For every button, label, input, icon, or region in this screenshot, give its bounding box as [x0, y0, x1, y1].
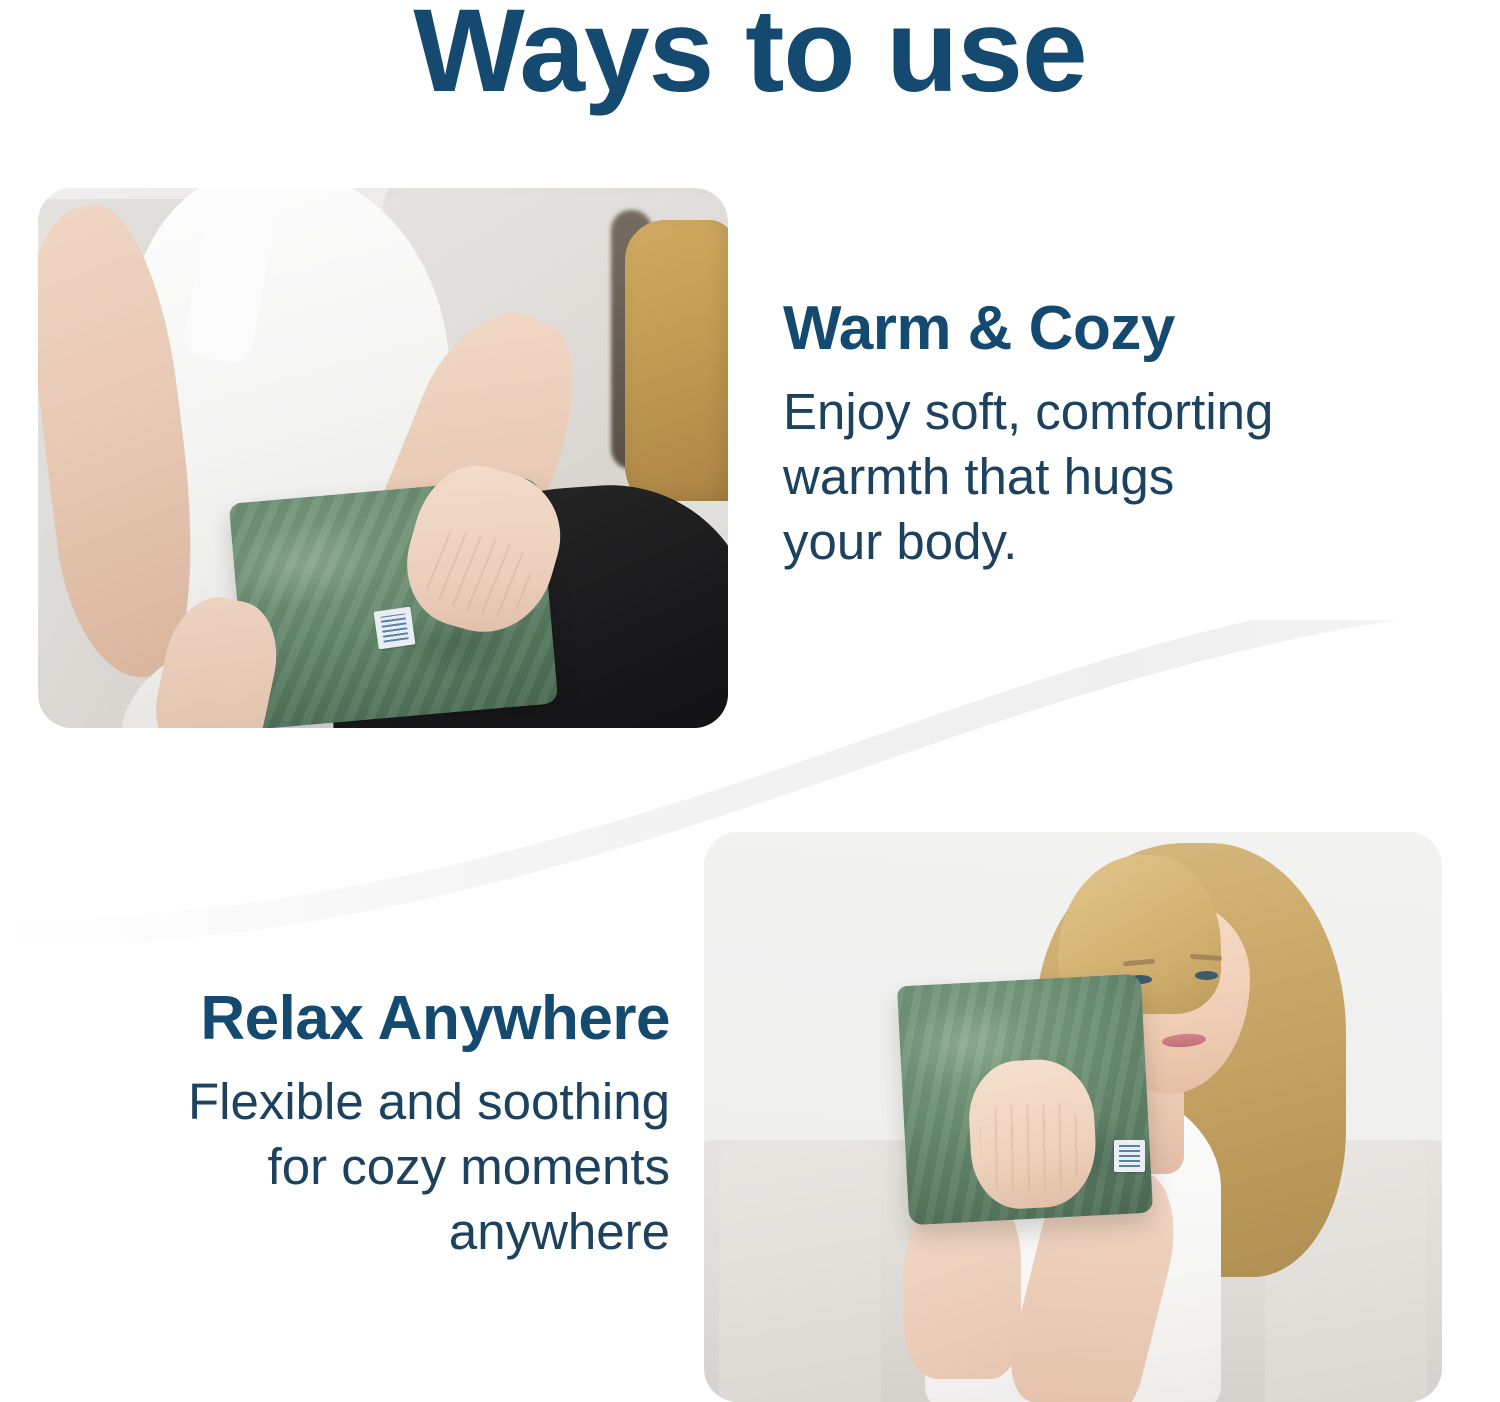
- feature-body-warm-and-cozy: Enjoy soft, comforting warmth that hugs …: [783, 379, 1383, 575]
- feature-text-warm-and-cozy: Warm & Cozy Enjoy soft, comforting warmt…: [783, 296, 1383, 575]
- feature-body-line: your body.: [783, 509, 1383, 574]
- feature-text-relax-anywhere: Relax Anywhere Flexible and soothing for…: [40, 986, 670, 1265]
- couch-left-cushion: [719, 1140, 881, 1402]
- infographic-page: Ways to use: [0, 0, 1500, 1402]
- feature-photo-warm-and-cozy: [38, 188, 728, 728]
- feature-body-line: Flexible and soothing: [40, 1069, 670, 1134]
- feature-body-line: for cozy moments: [40, 1134, 670, 1199]
- page-title: Ways to use: [0, 0, 1500, 120]
- feature-body-relax-anywhere: Flexible and soothing for cozy moments a…: [40, 1069, 670, 1265]
- photo-scene-lap: [38, 188, 728, 728]
- feature-body-line: warmth that hugs: [783, 444, 1383, 509]
- feature-heading-warm-and-cozy: Warm & Cozy: [783, 296, 1383, 363]
- feature-body-line: Enjoy soft, comforting: [783, 379, 1383, 444]
- person-hand: [966, 1057, 1099, 1212]
- feature-photo-relax-anywhere: [704, 832, 1442, 1402]
- feature-body-line: anywhere: [40, 1199, 670, 1264]
- feature-heading-relax-anywhere: Relax Anywhere: [40, 986, 670, 1053]
- product-care-tag: [374, 607, 416, 650]
- photo-scene-shoulder: [704, 832, 1442, 1402]
- mustard-pillow: [625, 220, 729, 512]
- product-care-tag: [1114, 1140, 1145, 1172]
